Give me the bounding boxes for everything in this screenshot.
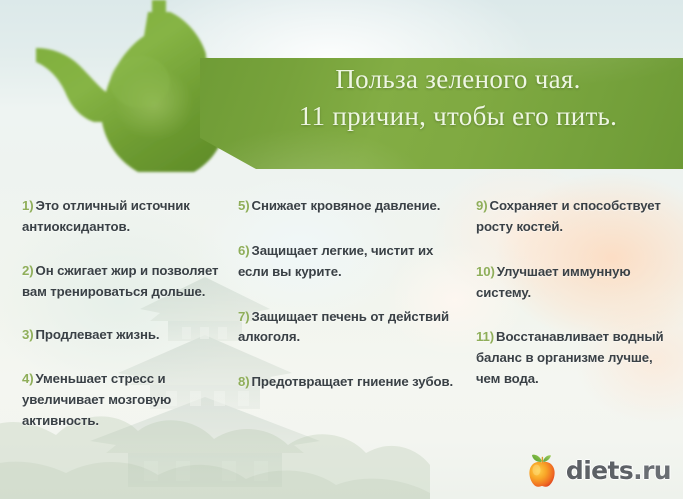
benefit-text: Снижает кровяное давление. bbox=[252, 198, 441, 213]
apple-icon bbox=[525, 452, 559, 488]
benefit-number: 3) bbox=[22, 327, 34, 342]
watermark-label: diets.ru bbox=[566, 456, 671, 485]
benefit-number: 6) bbox=[238, 243, 250, 258]
watermark-tld: .ru bbox=[633, 456, 671, 485]
benefit-text: Восстанавливает водный баланс в организм… bbox=[476, 329, 664, 386]
benefit-text: Продлевает жизнь. bbox=[36, 327, 160, 342]
benefit-item: 2)Он сжигает жир и позволяет вам трениро… bbox=[22, 261, 222, 303]
benefit-item: 11)Восстанавливает водный баланс в орган… bbox=[476, 327, 674, 390]
benefit-item: 1)Это отличный источник антиоксидантов. bbox=[22, 196, 222, 238]
page-title: Польза зеленого чая. 11 причин, чтобы ег… bbox=[245, 62, 671, 134]
benefit-number: 8) bbox=[238, 374, 250, 389]
benefit-item: 7)Защищает печень от действий алкоголя. bbox=[238, 307, 454, 349]
benefit-text: Уменьшает стресс и увеличивает мозговую … bbox=[22, 371, 171, 428]
benefit-item: 4)Уменьшает стресс и увеличивает мозгову… bbox=[22, 369, 222, 432]
site-watermark[interactable]: diets.ru bbox=[525, 452, 671, 488]
benefit-text: Сохраняет и способствует росту костей. bbox=[476, 198, 661, 234]
benefit-text: Защищает печень от действий алкоголя. bbox=[238, 309, 449, 345]
benefit-number: 10) bbox=[476, 264, 495, 279]
benefits-column-3: 9)Сохраняет и способствует росту костей.… bbox=[476, 196, 674, 390]
benefit-item: 9)Сохраняет и способствует росту костей. bbox=[476, 196, 674, 238]
benefit-number: 1) bbox=[22, 198, 34, 213]
watermark-name: diets bbox=[566, 456, 633, 485]
benefit-number: 11) bbox=[476, 329, 494, 344]
benefit-number: 4) bbox=[22, 371, 34, 386]
benefit-text: Он сжигает жир и позволяет вам тренирова… bbox=[22, 263, 218, 299]
title-line-2: 11 причин, чтобы его пить. bbox=[245, 99, 671, 134]
benefit-item: 8)Предотвращает гниение зубов. bbox=[238, 372, 454, 393]
benefits-column-1: 1)Это отличный источник антиоксидантов. … bbox=[22, 196, 222, 432]
benefit-text: Улучшает иммунную систему. bbox=[476, 264, 631, 300]
benefit-item: 3)Продлевает жизнь. bbox=[22, 325, 222, 346]
benefit-number: 7) bbox=[238, 309, 250, 324]
benefit-number: 9) bbox=[476, 198, 488, 213]
infographic-poster: Польза зеленого чая. 11 причин, чтобы ег… bbox=[0, 0, 683, 499]
benefits-column-2: 5)Снижает кровяное давление. 6)Защищает … bbox=[238, 196, 454, 393]
title-line-1: Польза зеленого чая. bbox=[245, 62, 671, 97]
benefit-item: 10)Улучшает иммунную систему. bbox=[476, 262, 674, 304]
benefit-number: 2) bbox=[22, 263, 34, 278]
benefit-text: Это отличный источник антиоксидантов. bbox=[22, 198, 190, 234]
benefit-number: 5) bbox=[238, 198, 250, 213]
benefit-item: 5)Снижает кровяное давление. bbox=[238, 196, 454, 217]
benefit-text: Предотвращает гниение зубов. bbox=[252, 374, 454, 389]
benefits-columns: 1)Это отличный источник антиоксидантов. … bbox=[0, 196, 683, 476]
benefit-text: Защищает легкие, чистит их если вы курит… bbox=[238, 243, 433, 279]
benefit-item: 6)Защищает легкие, чистит их если вы кур… bbox=[238, 241, 454, 283]
